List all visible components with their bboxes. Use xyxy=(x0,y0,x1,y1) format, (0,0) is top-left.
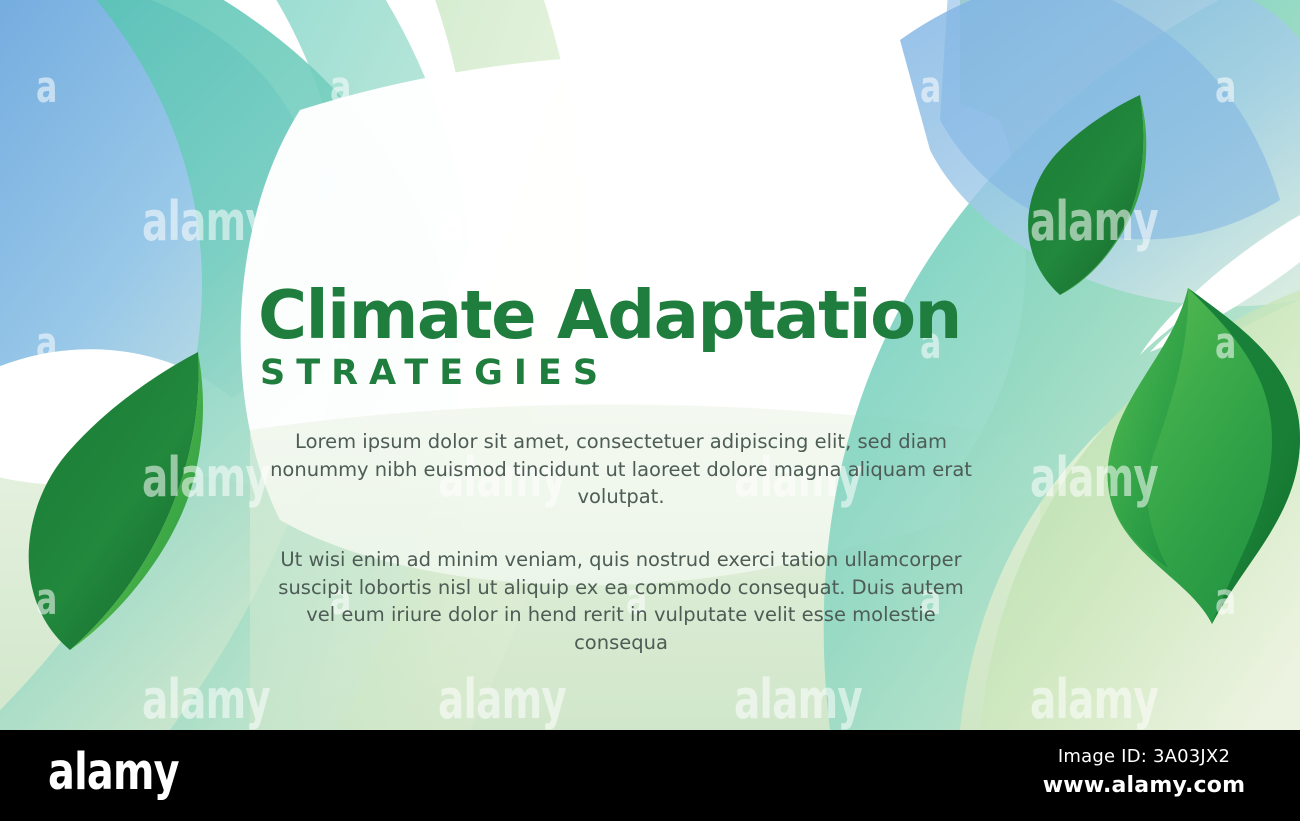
image-id-label: Image ID: 3A03JX2 xyxy=(1014,746,1274,767)
leaf-top-right xyxy=(1028,95,1146,295)
alamy-meta: Image ID: 3A03JX2 www.alamy.com xyxy=(1014,746,1274,798)
poster-artwork: a a a a a alamy alamy alamy alamy a a a … xyxy=(0,0,1300,730)
leaf-bottom-right xyxy=(1027,255,1086,350)
alamy-url: www.alamy.com xyxy=(1014,773,1274,798)
poster-screenshot: a a a a a alamy alamy alamy alamy a a a … xyxy=(0,0,1300,821)
leaf-left xyxy=(29,352,203,650)
alamy-logo: alamy xyxy=(48,743,179,803)
leaf-big-right xyxy=(1105,288,1300,624)
leaf-shapes xyxy=(0,0,1300,730)
alamy-watermark-bar: alamy Image ID: 3A03JX2 www.alamy.com xyxy=(0,730,1300,821)
